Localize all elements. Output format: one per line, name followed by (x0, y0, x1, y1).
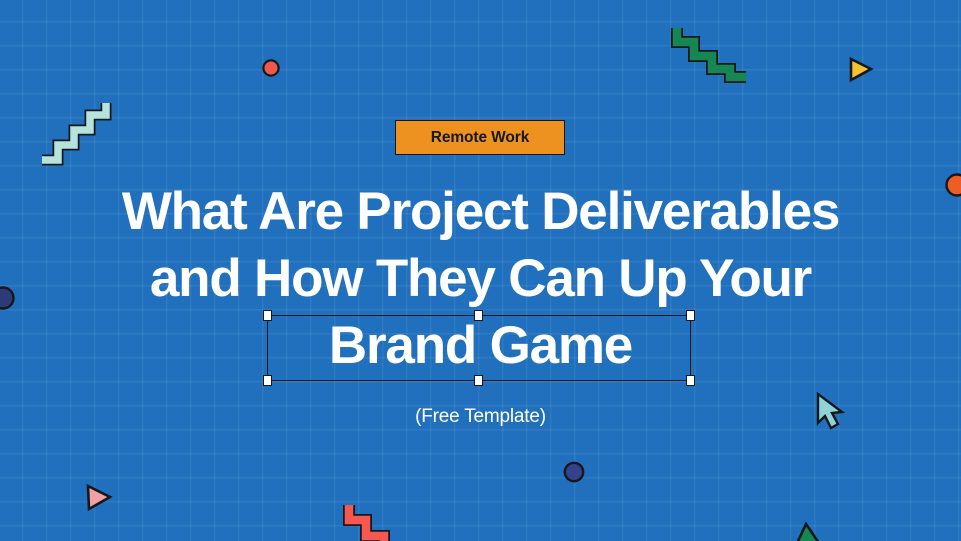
category-badge[interactable]: Remote Work (395, 120, 565, 155)
resize-handle-bottom-right[interactable] (686, 375, 695, 386)
slide-subtitle[interactable]: (Free Template) (0, 406, 961, 428)
category-badge-label: Remote Work (431, 129, 530, 147)
text-selection-box[interactable] (267, 315, 691, 381)
resize-handle-top-right[interactable] (686, 310, 695, 321)
presentation-slide: Remote Work What Are Project Deliverable… (0, 0, 961, 541)
resize-handle-top-center[interactable] (474, 310, 483, 321)
resize-handle-bottom-left[interactable] (263, 375, 272, 386)
slide-content: Remote Work What Are Project Deliverable… (0, 0, 961, 541)
resize-handle-top-left[interactable] (263, 310, 272, 321)
resize-handle-bottom-center[interactable] (474, 375, 483, 386)
